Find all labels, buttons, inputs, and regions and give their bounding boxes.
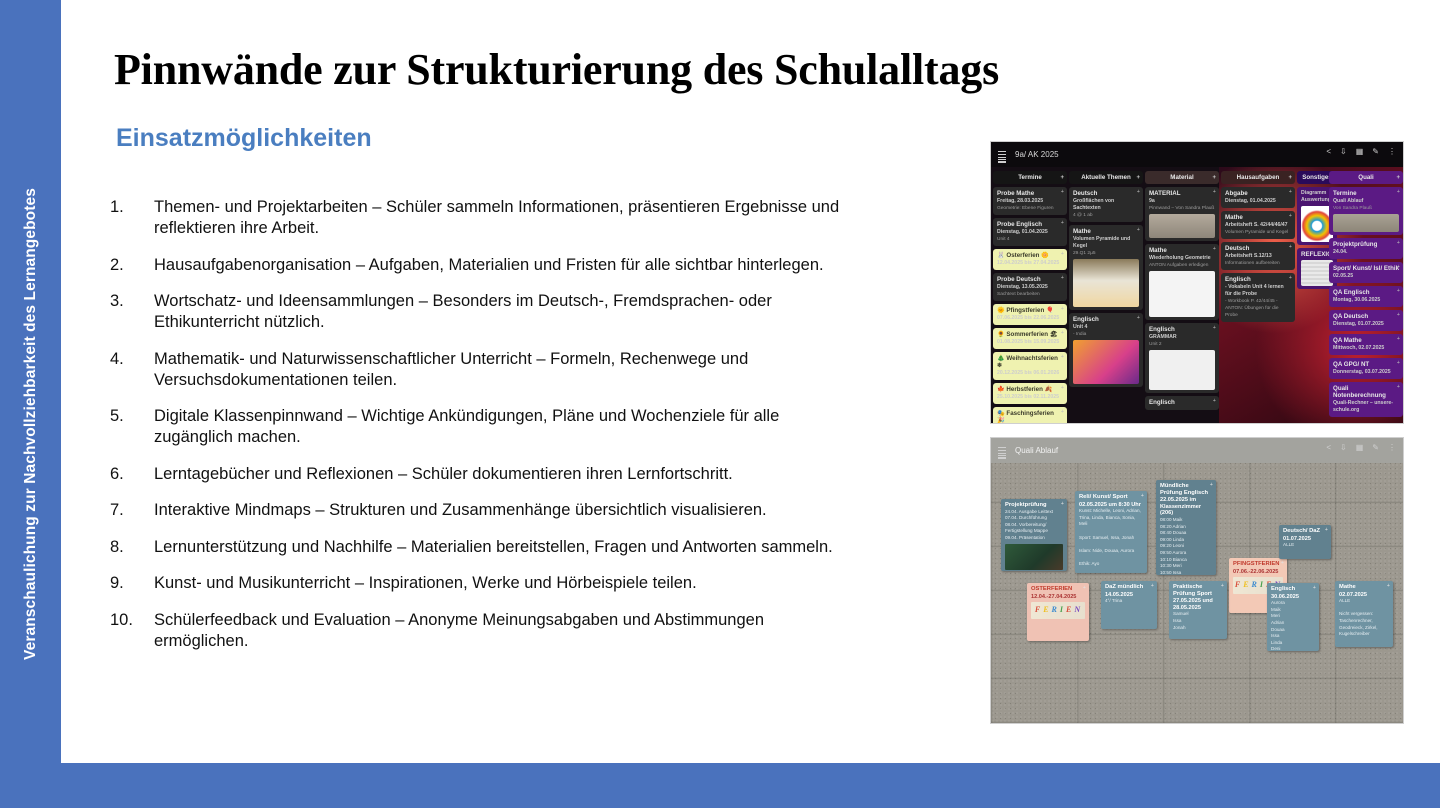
list-item: 7.Interaktive Mindmaps – Strukturen und … — [110, 500, 840, 521]
qr-icon[interactable]: ▦ — [1356, 147, 1364, 156]
share-icon[interactable]: < — [1326, 443, 1331, 452]
note-title: Projektprüfung — [1005, 502, 1063, 509]
add-card-icon[interactable]: + — [1060, 175, 1064, 181]
card-subtitle: Arbeitsheft S.12/13 — [1225, 253, 1291, 260]
card-thumbnail — [1333, 214, 1399, 232]
card-title: Englisch — [1149, 326, 1215, 333]
column-header[interactable]: Termine+ — [993, 171, 1067, 184]
card-title: Deutsch — [1073, 190, 1139, 197]
card-subtitle: 01.08.2025 bis 15.09.2025 — [997, 339, 1063, 346]
note-date: 27.05.2025 und 28.05.2025 — [1173, 598, 1223, 611]
card-title: Englisch — [1073, 316, 1139, 323]
note-menu-icon[interactable]: + — [1221, 583, 1224, 590]
note-body: Aurora Maik Meri Adrian Douaa Issa Linda… — [1271, 600, 1315, 651]
board-card[interactable]: +DeutschArbeitsheft S.12/13Informationen… — [1221, 242, 1295, 270]
pencil-icon[interactable]: ✎ — [1372, 147, 1379, 156]
card-menu-icon[interactable]: + — [1213, 246, 1216, 253]
card-subtitle: 25.10.2025 bis 02.11.2025 — [997, 394, 1063, 401]
screenshot-pinboard-quali: Quali Ablauf < ⇩ ▦ ✎ ⋮ +Projektprüfung24… — [990, 437, 1404, 724]
board-card[interactable]: +Sport/ Kunst/ Isl/ Ethik02.05.25 — [1329, 262, 1403, 283]
note-menu-icon[interactable]: + — [1151, 583, 1154, 590]
card-note: Sachtext bearbeiten — [997, 291, 1063, 298]
board-card[interactable]: +🍁 Herbstferien 🍂25.10.2025 bis 02.11.20… — [993, 383, 1067, 404]
list-item-text: Lernunterstützung und Nachhilfe – Materi… — [154, 537, 833, 558]
card-note: Geometrie: Ebene Figuren — [997, 205, 1063, 212]
note-date: 01.07.2025 — [1283, 536, 1327, 543]
card-title: Mathe — [1073, 228, 1139, 235]
card-menu-icon[interactable]: + — [1289, 189, 1292, 196]
note-body: Kunst: Michelle, Leoni, Adrian, Trina, L… — [1079, 508, 1143, 567]
column-header-label: Quali — [1358, 174, 1373, 181]
pinboard-note[interactable]: +Englisch30.06.2025Aurora Maik Meri Adri… — [1267, 583, 1319, 651]
add-card-icon[interactable]: + — [1212, 175, 1216, 181]
column-header-label: Termine — [1018, 174, 1042, 181]
note-date: 02.05.2025 um 8:30 Uhr — [1079, 502, 1143, 509]
card-subtitle: 24.04. — [1333, 249, 1399, 256]
card-menu-icon[interactable]: + — [1061, 385, 1064, 392]
column-header-label: Hausaufgaben — [1237, 174, 1280, 181]
board-bottom-canvas: +Projektprüfung24.04. Ausgabe Leittext 0… — [991, 463, 1403, 723]
board-card[interactable]: +AbgabeDienstag, 01.04.2025 — [1221, 187, 1295, 208]
board-card[interactable]: +🎄 Weihnachtsferien ❄20.12.2025 bis 06.0… — [993, 352, 1067, 380]
card-title: Englisch — [1225, 276, 1291, 283]
card-note: Informationen aufbereiten — [1225, 260, 1291, 267]
board-card[interactable]: +QA MatheMittwoch, 02.07.2025 — [1329, 334, 1403, 355]
ferien-letter: N — [1073, 607, 1082, 614]
card-title: 🌞 Pfingstferien 🎈 — [997, 307, 1063, 314]
card-note: Pinnwand – Von Sandra Plauß — [1149, 205, 1215, 212]
card-subtitle: Wiederholung Geometrie — [1149, 255, 1215, 262]
note-menu-icon[interactable]: + — [1061, 501, 1064, 508]
board-card[interactable]: +Englisch- Vokabeln Unit 4 lernen für di… — [1221, 273, 1295, 322]
card-menu-icon[interactable]: + — [1289, 275, 1292, 282]
list-item-text: Schülerfeedback und Evaluation – Anonyme… — [154, 610, 840, 652]
note-ferien-image: FERIEN — [1031, 602, 1085, 619]
card-title: Deutsch — [1225, 245, 1291, 252]
pinboard-note[interactable]: +Mathe02.07.2025ALLE Nicht vergessen: Ta… — [1335, 581, 1393, 647]
note-thumbnail — [1005, 544, 1063, 570]
board-card[interactable]: +🌞 Pfingstferien 🎈07.06.2025 bis 22.06.2… — [993, 304, 1067, 325]
board-top-actions: < ⇩ ▦ ✎ ⋮ — [1326, 147, 1396, 156]
note-date: 30.06.2025 — [1271, 594, 1315, 601]
list-item: 8.Lernunterstützung und Nachhilfe – Mate… — [110, 537, 840, 558]
card-menu-icon[interactable]: + — [1061, 306, 1064, 313]
vertical-section-label-text: Veranschaulichung zur Nachvollziehbarkei… — [22, 188, 40, 660]
note-menu-icon[interactable]: + — [1313, 585, 1316, 592]
card-menu-icon[interactable]: + — [1397, 240, 1400, 247]
note-title: Englisch — [1271, 586, 1315, 593]
note-title: Praktische Prüfung Sport — [1173, 584, 1223, 597]
column-header-label: Sonstiges — [1302, 174, 1332, 181]
note-date: 22.05.2025 im Klassenzimmer (206) — [1160, 497, 1212, 517]
list-item: 2.Hausaufgabenorganisation – Aufgaben, M… — [110, 255, 840, 276]
page-title: Pinnwände zur Strukturierung des Schulal… — [114, 44, 999, 95]
board-top-canvas: Termine++Probe MatheFreitag, 28.03.2025G… — [991, 167, 1403, 424]
board-card[interactable]: +TermineQuali AblaufVon Sandra Plauß — [1329, 187, 1403, 235]
list-item: 4.Mathematik- und Naturwissenschaftliche… — [110, 349, 840, 391]
board-card[interactable]: +Quali NotenberechnungQuali-Rechner – un… — [1329, 382, 1403, 417]
note-menu-icon[interactable]: + — [1210, 482, 1213, 489]
card-menu-icon[interactable]: + — [1397, 384, 1400, 391]
card-title: 🍁 Herbstferien 🍂 — [997, 386, 1063, 393]
card-thumbnail — [1149, 271, 1215, 317]
column-header-label: Aktuelle Themen — [1081, 174, 1131, 181]
vertical-section-label: Veranschaulichung zur Nachvollziehbarkei… — [0, 0, 61, 808]
card-menu-icon[interactable]: + — [1061, 220, 1064, 227]
note-title: Mündliche Prüfung Englisch — [1160, 483, 1212, 496]
board-card[interactable]: +DeutschGroßflächen von Sachtexten4 @ 1 … — [1069, 187, 1143, 222]
card-subtitle: 07.06.2025 bis 22.06.2025 — [997, 315, 1063, 322]
card-thumbnail — [1073, 340, 1139, 384]
list-item: 3.Wortschatz- und Ideensammlungen – Beso… — [110, 291, 840, 333]
pinboard-note[interactable]: +DaZ mündlich14.05.20254°/ Trina — [1101, 581, 1157, 629]
column-header-label: Material — [1170, 174, 1193, 181]
card-menu-icon[interactable]: + — [1137, 189, 1140, 196]
board-card[interactable]: +🐰 Osterferien 🌼12.04.2025 bis 27.04.202… — [993, 249, 1067, 270]
list-item-number: 4. — [110, 349, 154, 391]
card-note: ANTON Aufgaben erledigen — [1149, 262, 1215, 269]
board-card[interactable]: +EnglischUnit 4- India — [1069, 313, 1143, 387]
card-subtitle: Mittwoch, 02.07.2025 — [1333, 345, 1399, 352]
note-title: Mathe — [1339, 584, 1389, 591]
card-title: QA GPG/ NT — [1333, 361, 1399, 368]
board-top-toolbar: 9a/ AK 2025 < ⇩ ▦ ✎ ⋮ — [991, 142, 1403, 167]
qr-icon[interactable]: ▦ — [1356, 443, 1364, 452]
board-bottom-actions: < ⇩ ▦ ✎ ⋮ — [1326, 443, 1396, 452]
card-menu-icon[interactable]: + — [1397, 360, 1400, 367]
note-menu-icon[interactable]: + — [1325, 527, 1328, 534]
card-thumbnail — [1073, 259, 1139, 307]
column-header[interactable]: Quali+ — [1329, 171, 1403, 184]
note-menu-icon[interactable]: + — [1387, 583, 1390, 590]
card-title: Probe Englisch — [997, 221, 1063, 228]
screenshot-pinboard-class: 9a/ AK 2025 < ⇩ ▦ ✎ ⋮ Termine++Probe Mat… — [990, 141, 1404, 424]
board-card[interactable]: +QA GPG/ NTDonnerstag, 03.07.2025 — [1329, 358, 1403, 379]
note-menu-icon[interactable]: + — [1141, 493, 1144, 500]
card-title: 🌻 Sommerferien 🏖 — [997, 331, 1063, 338]
list-item-number: 7. — [110, 500, 154, 521]
card-subtitle: Dienstag, 01.04.2025 — [1225, 198, 1291, 205]
pinboard-note[interactable]: +Deutsch/ DaZ01.07.2025ALLE — [1279, 525, 1331, 559]
card-subtitle: Großflächen von Sachtexten — [1073, 198, 1139, 212]
grid-view-icon[interactable] — [998, 158, 1006, 163]
board-card[interactable]: +Probe EnglischDienstag, 01.04.2025Unit … — [993, 218, 1067, 246]
pinboard-note[interactable]: +OSTERFERIEN12.04.-27.04.2025FERIEN — [1027, 583, 1089, 641]
list-item: 6.Lerntagebücher und Reflexionen – Schül… — [110, 464, 840, 485]
card-menu-icon[interactable]: + — [1213, 398, 1216, 405]
ferien-letter: R — [1251, 582, 1259, 589]
board-card[interactable]: +QA EnglischMontag, 30.06.2025 — [1329, 286, 1403, 307]
board-column: Aktuelle Themen++DeutschGroßflächen von … — [1069, 171, 1143, 390]
list-item-number: 3. — [110, 291, 154, 333]
card-subtitle: Quali Ablauf — [1333, 198, 1399, 205]
card-subtitle: Dienstag, 13.05.2025 — [997, 284, 1063, 291]
card-menu-icon[interactable]: + — [1213, 325, 1216, 332]
card-title: Mathe — [1149, 247, 1215, 254]
card-menu-icon[interactable]: + — [1397, 336, 1400, 343]
note-title: Reli/ Kunst/ Sport — [1079, 494, 1143, 501]
ferien-letter: R — [1051, 607, 1059, 614]
list-item-number: 10. — [110, 610, 154, 652]
board-card[interactable]: +MatheArbeitsheft S. 42/44/46/47Volumen … — [1221, 211, 1295, 239]
card-note: 4 @ 1 ab — [1073, 212, 1139, 219]
card-title: Quali Notenberechnung — [1333, 385, 1399, 399]
note-body: ALLE — [1283, 542, 1327, 549]
note-menu-icon[interactable]: + — [1083, 585, 1086, 592]
list-item: 5.Digitale Klassenpinnwand – Wichtige An… — [110, 406, 840, 448]
card-title: 🎭 Faschingsferien 🎉 — [997, 410, 1063, 424]
card-note: Volumen Pyramide und Kegel — [1225, 229, 1291, 236]
board-card[interactable]: +MatheWiederholung GeometrieANTON Aufgab… — [1145, 244, 1219, 320]
pinboard-note[interactable]: +Projektprüfung24.04. Ausgabe Leittext 0… — [1001, 499, 1067, 571]
board-top-title: 9a/ AK 2025 — [1015, 150, 1059, 159]
pinboard-note[interactable]: +Praktische Prüfung Sport27.05.2025 und … — [1169, 581, 1227, 639]
add-card-icon[interactable]: + — [1136, 175, 1140, 181]
page-subtitle: Einsatzmöglichkeiten — [116, 124, 372, 153]
card-title: 🐰 Osterferien 🌼 — [997, 252, 1063, 259]
card-title: Probe Deutsch — [997, 276, 1063, 283]
card-title: QA Englisch — [1333, 289, 1399, 296]
card-menu-icon[interactable]: + — [1397, 312, 1400, 319]
list-item-text: Lerntagebücher und Reflexionen – Schüler… — [154, 464, 733, 485]
card-menu-icon[interactable]: + — [1289, 244, 1292, 251]
card-note: - India — [1073, 331, 1139, 338]
card-note: Unit 4 — [997, 236, 1063, 243]
card-subtitle: Donnerstag, 03.07.2025 — [1333, 369, 1399, 376]
list-item: 1.Themen- und Projektarbeiten – Schüler … — [110, 197, 840, 239]
board-card[interactable]: +Probe DeutschDienstag, 13.05.2025Sachte… — [993, 273, 1067, 301]
card-menu-icon[interactable]: + — [1397, 264, 1400, 271]
card-note: 29.Q1 2µ5 — [1073, 250, 1139, 257]
board-card[interactable]: +🎭 Faschingsferien 🎉01.03.2026 bis 09.03… — [993, 407, 1067, 424]
pinboard-note[interactable]: +Reli/ Kunst/ Sport02.05.2025 um 8:30 Uh… — [1075, 491, 1147, 573]
note-date: 12.04.-27.04.2025 — [1031, 594, 1085, 601]
board-card[interactable]: +MATERIAL9aPinnwand – Von Sandra Plauß — [1145, 187, 1219, 241]
card-menu-icon[interactable]: + — [1061, 354, 1064, 361]
note-body: 08:00 Maik 08:20 Adrian 08:40 Douaa 09:0… — [1160, 517, 1212, 575]
card-menu-icon[interactable]: + — [1061, 330, 1064, 337]
card-title: Abgabe — [1225, 190, 1291, 197]
share-icon[interactable]: < — [1326, 147, 1331, 156]
note-title: Deutsch/ DaZ — [1283, 528, 1327, 535]
note-menu-icon[interactable]: + — [1281, 560, 1284, 567]
card-title: Mathe — [1225, 214, 1291, 221]
card-subtitle: Freitag, 28.03.2025 — [997, 198, 1063, 205]
card-menu-icon[interactable]: + — [1213, 189, 1216, 196]
note-title: PFINGSTFERIEN — [1233, 561, 1283, 568]
board-column: Termine++Probe MatheFreitag, 28.03.2025G… — [993, 171, 1067, 424]
card-subtitle: Unit 4 — [1073, 324, 1139, 331]
card-title: QA Deutsch — [1333, 313, 1399, 320]
more-icon[interactable]: ⋮ — [1388, 147, 1396, 156]
note-date: 07.06.-22.06.2025 — [1233, 569, 1283, 576]
card-menu-icon[interactable]: + — [1397, 189, 1400, 196]
card-subtitle: Quali-Rechner – unsere-schule.org — [1333, 400, 1399, 414]
add-card-icon[interactable]: + — [1288, 175, 1292, 181]
card-thumbnail — [1149, 350, 1215, 390]
card-menu-icon[interactable]: + — [1137, 227, 1140, 234]
list-item-number: 2. — [110, 255, 154, 276]
board-card[interactable]: +🌻 Sommerferien 🏖01.08.2025 bis 15.09.20… — [993, 328, 1067, 349]
card-note: Von Sandra Plauß — [1333, 205, 1399, 212]
board-card[interactable]: +Probe MatheFreitag, 28.03.2025Geometrie… — [993, 187, 1067, 215]
list-item-text: Hausaufgabenorganisation – Aufgaben, Mat… — [154, 255, 824, 276]
board-card[interactable]: +MatheVolumen Pyramide und Kegel29.Q1 2µ… — [1069, 225, 1143, 310]
board-column: Hausaufgaben++AbgabeDienstag, 01.04.2025… — [1221, 171, 1295, 325]
card-subtitle: Arbeitsheft S. 42/44/46/47 — [1225, 222, 1291, 229]
card-menu-icon[interactable]: + — [1289, 213, 1292, 220]
board-card[interactable]: +Englisch — [1145, 396, 1219, 410]
download-icon[interactable]: ⇩ — [1340, 443, 1347, 452]
list-item: 10.Schülerfeedback und Evaluation – Anon… — [110, 610, 840, 652]
numbered-list: 1.Themen- und Projektarbeiten – Schüler … — [110, 197, 840, 667]
add-card-icon[interactable]: + — [1396, 175, 1400, 181]
list-item-number: 6. — [110, 464, 154, 485]
list-item-number: 8. — [110, 537, 154, 558]
pencil-icon[interactable]: ✎ — [1372, 443, 1379, 452]
board-card[interactable]: +Projektprüfung24.04. — [1329, 238, 1403, 259]
grid-view-icon[interactable] — [998, 454, 1006, 459]
download-icon[interactable]: ⇩ — [1340, 147, 1347, 156]
card-subtitle: 9a — [1149, 198, 1215, 205]
card-note: Unit 2 — [1149, 341, 1215, 348]
card-menu-icon[interactable]: + — [1061, 189, 1064, 196]
card-subtitle: Dienstag, 01.07.2025 — [1333, 321, 1399, 328]
card-thumbnail — [1149, 214, 1215, 238]
list-item-text: Themen- und Projektarbeiten – Schüler sa… — [154, 197, 840, 239]
list-item-text: Mathematik- und Naturwissenschaftlicher … — [154, 349, 840, 391]
card-title: 🎄 Weihnachtsferien ❄ — [997, 355, 1063, 369]
column-header[interactable]: Hausaufgaben+ — [1221, 171, 1295, 184]
column-header[interactable]: Aktuelle Themen+ — [1069, 171, 1143, 184]
card-subtitle: Volumen Pyramide und Kegel — [1073, 236, 1139, 250]
slide-root: Veranschaulichung zur Nachvollziehbarkei… — [0, 0, 1440, 808]
card-title: Termine — [1333, 190, 1399, 197]
card-subtitle: - Vokabeln Unit 4 lernen für die Probe — [1225, 284, 1291, 298]
ferien-letter: F — [1234, 582, 1242, 589]
ferien-letter: F — [1034, 607, 1042, 614]
note-body: ALLE Nicht vergessen: Taschenrechner, Ge… — [1339, 598, 1389, 638]
card-title: Sport/ Kunst/ Isl/ Ethik — [1333, 265, 1399, 272]
note-body: 24.04. Ausgabe Leittext 07.04. Durchführ… — [1005, 509, 1063, 542]
card-subtitle: Dienstag, 01.04.2025 — [997, 229, 1063, 236]
card-menu-icon[interactable]: + — [1397, 288, 1400, 295]
card-title: Probe Mathe — [997, 190, 1063, 197]
board-column: Quali++TermineQuali AblaufVon Sandra Pla… — [1329, 171, 1403, 420]
list-item-text: Interaktive Mindmaps – Strukturen und Zu… — [154, 500, 767, 521]
card-menu-icon[interactable]: + — [1061, 409, 1064, 416]
card-title: Englisch — [1149, 399, 1215, 406]
board-bottom-title: Quali Ablauf — [1015, 446, 1058, 455]
note-date: 14.05.2025 — [1105, 592, 1153, 599]
more-icon[interactable]: ⋮ — [1388, 443, 1396, 452]
list-item-text: Kunst- und Musikunterricht – Inspiration… — [154, 573, 697, 594]
card-subtitle: 20.12.2025 bis 06.01.2026 — [997, 370, 1063, 377]
board-card[interactable]: +QA DeutschDienstag, 01.07.2025 — [1329, 310, 1403, 331]
list-item-text: Wortschatz- und Ideensammlungen – Besond… — [154, 291, 840, 333]
ferien-letter: E — [1042, 607, 1050, 614]
note-date: 02.07.2025 — [1339, 592, 1389, 599]
card-subtitle: Montag, 30.06.2025 — [1333, 297, 1399, 304]
board-column: Material++MATERIAL9aPinnwand – Von Sandr… — [1145, 171, 1219, 413]
note-title: DaZ mündlich — [1105, 584, 1153, 591]
card-subtitle: 02.05.25 — [1333, 273, 1399, 280]
column-header[interactable]: Material+ — [1145, 171, 1219, 184]
list-item-number: 1. — [110, 197, 154, 239]
list-item-number: 9. — [110, 573, 154, 594]
card-title: MATERIAL — [1149, 190, 1215, 197]
card-subtitle: 12.04.2025 bis 27.04.2025 — [997, 260, 1063, 267]
ferien-letter: E — [1242, 582, 1250, 589]
card-subtitle: GRAMMAR — [1149, 334, 1215, 341]
list-item-text: Digitale Klassenpinnwand – Wichtige Ankü… — [154, 406, 840, 448]
card-menu-icon[interactable]: + — [1137, 315, 1140, 322]
card-menu-icon[interactable]: + — [1061, 251, 1064, 258]
card-title: QA Mathe — [1333, 337, 1399, 344]
card-title: Projektprüfung — [1333, 241, 1399, 248]
card-note: - Workbook P. 42/44/45 - ANTON: Übungen … — [1225, 298, 1291, 319]
card-menu-icon[interactable]: + — [1061, 275, 1064, 282]
ferien-letter: E — [1065, 607, 1073, 614]
list-item: 9.Kunst- und Musikunterricht – Inspirati… — [110, 573, 840, 594]
list-item-number: 5. — [110, 406, 154, 448]
note-body: Samuel Issa Jonah — [1173, 611, 1223, 631]
board-bottom-toolbar: Quali Ablauf < ⇩ ▦ ✎ ⋮ — [991, 438, 1403, 463]
pinboard-note[interactable]: +Mündliche Prüfung Englisch22.05.2025 im… — [1156, 480, 1216, 575]
note-body: 4°/ Trina — [1105, 598, 1153, 605]
note-title: OSTERFERIEN — [1031, 586, 1085, 593]
bottom-accent-bar — [0, 763, 1440, 808]
board-card[interactable]: +EnglischGRAMMARUnit 2 — [1145, 323, 1219, 393]
